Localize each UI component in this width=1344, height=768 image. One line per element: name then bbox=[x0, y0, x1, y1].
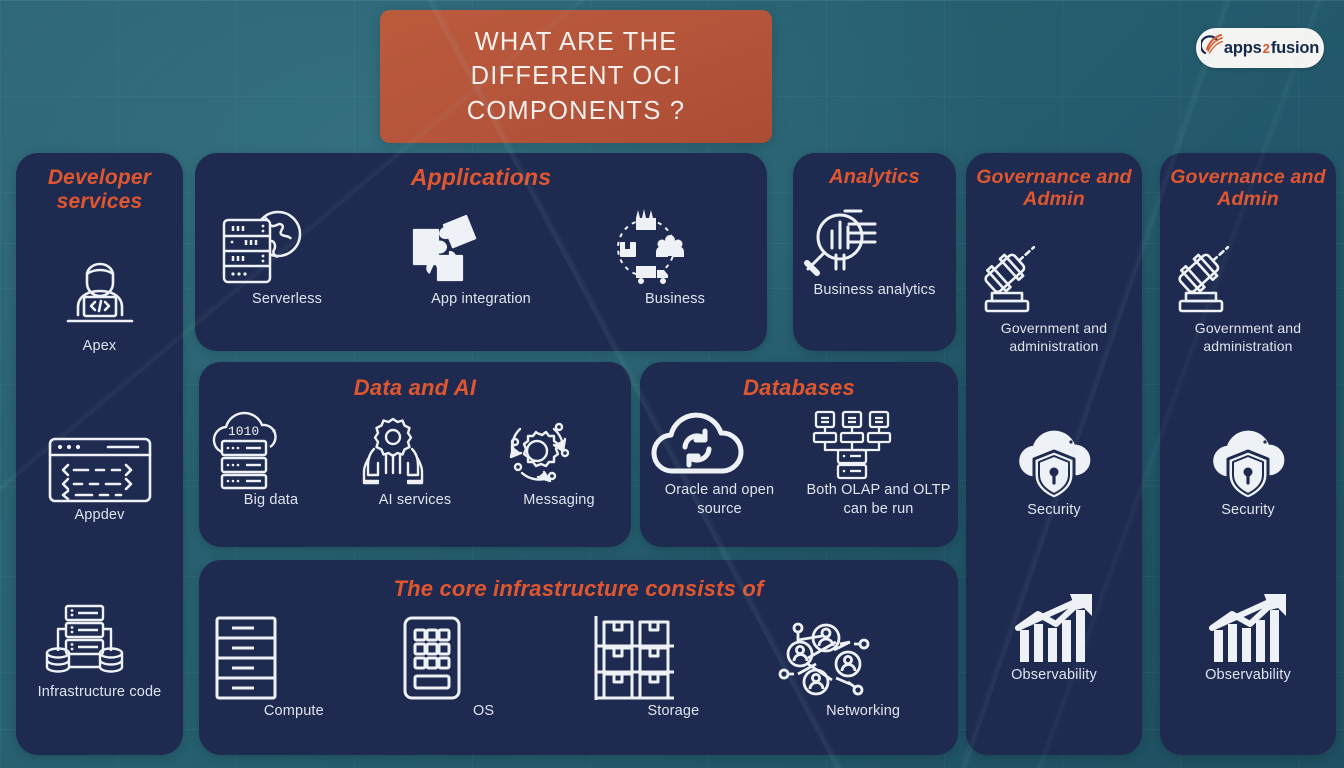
item-serverless: Serverless bbox=[212, 204, 362, 309]
label-olap-oltp: Both OLAP and OLTP can be run bbox=[804, 481, 954, 519]
svg-text:1010: 1010 bbox=[228, 424, 259, 439]
label-infrastructure-code: Infrastructure code bbox=[38, 683, 162, 702]
label-security-2: Security bbox=[1205, 501, 1291, 520]
panel-databases: Databases Oracle and open source bbox=[640, 362, 958, 547]
panel-analytics: Analytics Business analytics bbox=[793, 153, 956, 351]
network-people-icon bbox=[778, 614, 948, 702]
item-olap-oltp: Both OLAP and OLTP can be run bbox=[804, 409, 954, 519]
item-business: Business bbox=[600, 204, 750, 309]
title-banner: WHAT ARE THE DIFFERENT OCI COMPONENTS ? bbox=[380, 10, 772, 143]
panel-applications: Applications bbox=[195, 153, 767, 351]
cloud-shield-lock-icon bbox=[1205, 425, 1291, 501]
label-big-data: Big data bbox=[206, 491, 336, 510]
cloud-shield-lock-icon bbox=[1011, 425, 1097, 501]
magnifier-barchart-icon bbox=[793, 201, 956, 281]
label-storage: Storage bbox=[588, 702, 758, 721]
label-government-administration-1: Government and administration bbox=[966, 319, 1142, 356]
network-nodes-server-icon bbox=[804, 409, 954, 481]
item-observability-1: Observability bbox=[1008, 590, 1100, 685]
logo-text-fusion: fusion bbox=[1271, 39, 1319, 58]
panel-title-analytics: Analytics bbox=[793, 153, 956, 189]
infographic-canvas: WHAT ARE THE DIFFERENT OCI COMPONENTS ? … bbox=[0, 0, 1344, 768]
puzzle-pieces-icon bbox=[396, 204, 566, 290]
apps2fusion-logo: apps 2 fusion bbox=[1196, 28, 1324, 68]
server-database-icon bbox=[38, 603, 162, 683]
cloud-servers-binary-icon: 1010 bbox=[206, 411, 336, 491]
page-title: WHAT ARE THE DIFFERENT OCI COMPONENTS ? bbox=[380, 25, 772, 127]
panel-title-core-infrastructure: The core infrastructure consists of bbox=[199, 560, 958, 602]
logo-text-2: 2 bbox=[1263, 41, 1270, 56]
item-messaging: Messaging bbox=[494, 411, 624, 510]
label-government-administration-2: Government and administration bbox=[1160, 319, 1336, 356]
item-ai-services: AI services bbox=[350, 411, 480, 510]
panel-title-data-and-ai: Data and AI bbox=[199, 362, 631, 401]
item-security-1: Security bbox=[1011, 425, 1097, 520]
item-observability-2: Observability bbox=[1202, 590, 1294, 685]
panel-governance-admin-2: Governance and Admin Governm bbox=[1160, 153, 1336, 755]
item-security-2: Security bbox=[1205, 425, 1291, 520]
gear-arrows-cycle-icon bbox=[494, 411, 624, 491]
label-observability-1: Observability bbox=[1008, 666, 1100, 685]
device-keypad-icon bbox=[399, 614, 569, 702]
item-big-data: 1010 bbox=[206, 411, 336, 510]
panel-title-developer-services: Developer services bbox=[16, 153, 183, 213]
label-messaging: Messaging bbox=[494, 491, 624, 510]
panel-title-databases: Databases bbox=[640, 362, 958, 401]
item-app-integration: App integration bbox=[396, 204, 566, 309]
panel-developer-services: Developer services Apex bbox=[16, 153, 183, 755]
gavel-icon bbox=[1160, 245, 1336, 319]
item-apex: Apex bbox=[54, 253, 146, 356]
panel-data-and-ai: Data and AI 1010 bbox=[199, 362, 631, 547]
item-oracle-open-source: Oracle and open source bbox=[645, 409, 795, 519]
label-serverless: Serverless bbox=[212, 290, 362, 309]
code-window-icon bbox=[46, 434, 154, 506]
gavel-icon bbox=[966, 245, 1142, 319]
supply-chain-icon bbox=[600, 204, 750, 290]
label-os: OS bbox=[399, 702, 569, 721]
label-business-analytics: Business analytics bbox=[793, 281, 956, 300]
cloud-sync-icon bbox=[645, 409, 795, 481]
label-business: Business bbox=[600, 290, 750, 309]
server-rack-icon bbox=[209, 614, 379, 702]
boxes-shelf-icon bbox=[588, 614, 758, 702]
label-ai-services: AI services bbox=[350, 491, 480, 510]
item-os: OS bbox=[399, 614, 569, 721]
server-globe-icon bbox=[212, 204, 362, 290]
panel-title-applications: Applications bbox=[195, 153, 767, 190]
item-infrastructure-code: Infrastructure code bbox=[38, 603, 162, 702]
label-app-integration: App integration bbox=[396, 290, 566, 309]
label-appdev: Appdev bbox=[46, 506, 154, 525]
item-government-administration-2: Government and administration bbox=[1160, 245, 1336, 356]
item-compute: Compute bbox=[209, 614, 379, 721]
label-networking: Networking bbox=[778, 702, 948, 721]
panel-title-governance-1: Governance and Admin bbox=[966, 153, 1142, 210]
panel-title-governance-2: Governance and Admin bbox=[1160, 153, 1336, 210]
label-oracle-open-source: Oracle and open source bbox=[645, 481, 795, 519]
label-security-1: Security bbox=[1011, 501, 1097, 520]
panel-core-infrastructure: The core infrastructure consists of Comp… bbox=[199, 560, 958, 755]
logo-text-apps: apps bbox=[1224, 39, 1262, 58]
item-storage: Storage bbox=[588, 614, 758, 721]
developer-laptop-icon bbox=[54, 253, 146, 337]
label-observability-2: Observability bbox=[1202, 666, 1294, 685]
item-networking: Networking bbox=[778, 614, 948, 721]
hands-gear-icon bbox=[350, 411, 480, 491]
label-apex: Apex bbox=[54, 337, 146, 356]
item-appdev: Appdev bbox=[46, 434, 154, 525]
growth-chart-icon bbox=[1008, 590, 1100, 666]
item-business-analytics: Business analytics bbox=[793, 201, 956, 300]
item-government-administration-1: Government and administration bbox=[966, 245, 1142, 356]
label-compute: Compute bbox=[209, 702, 379, 721]
growth-chart-icon bbox=[1202, 590, 1294, 666]
logo-swoosh-icon bbox=[1201, 33, 1223, 64]
panel-governance-admin-1: Governance and Admin Governm bbox=[966, 153, 1142, 755]
